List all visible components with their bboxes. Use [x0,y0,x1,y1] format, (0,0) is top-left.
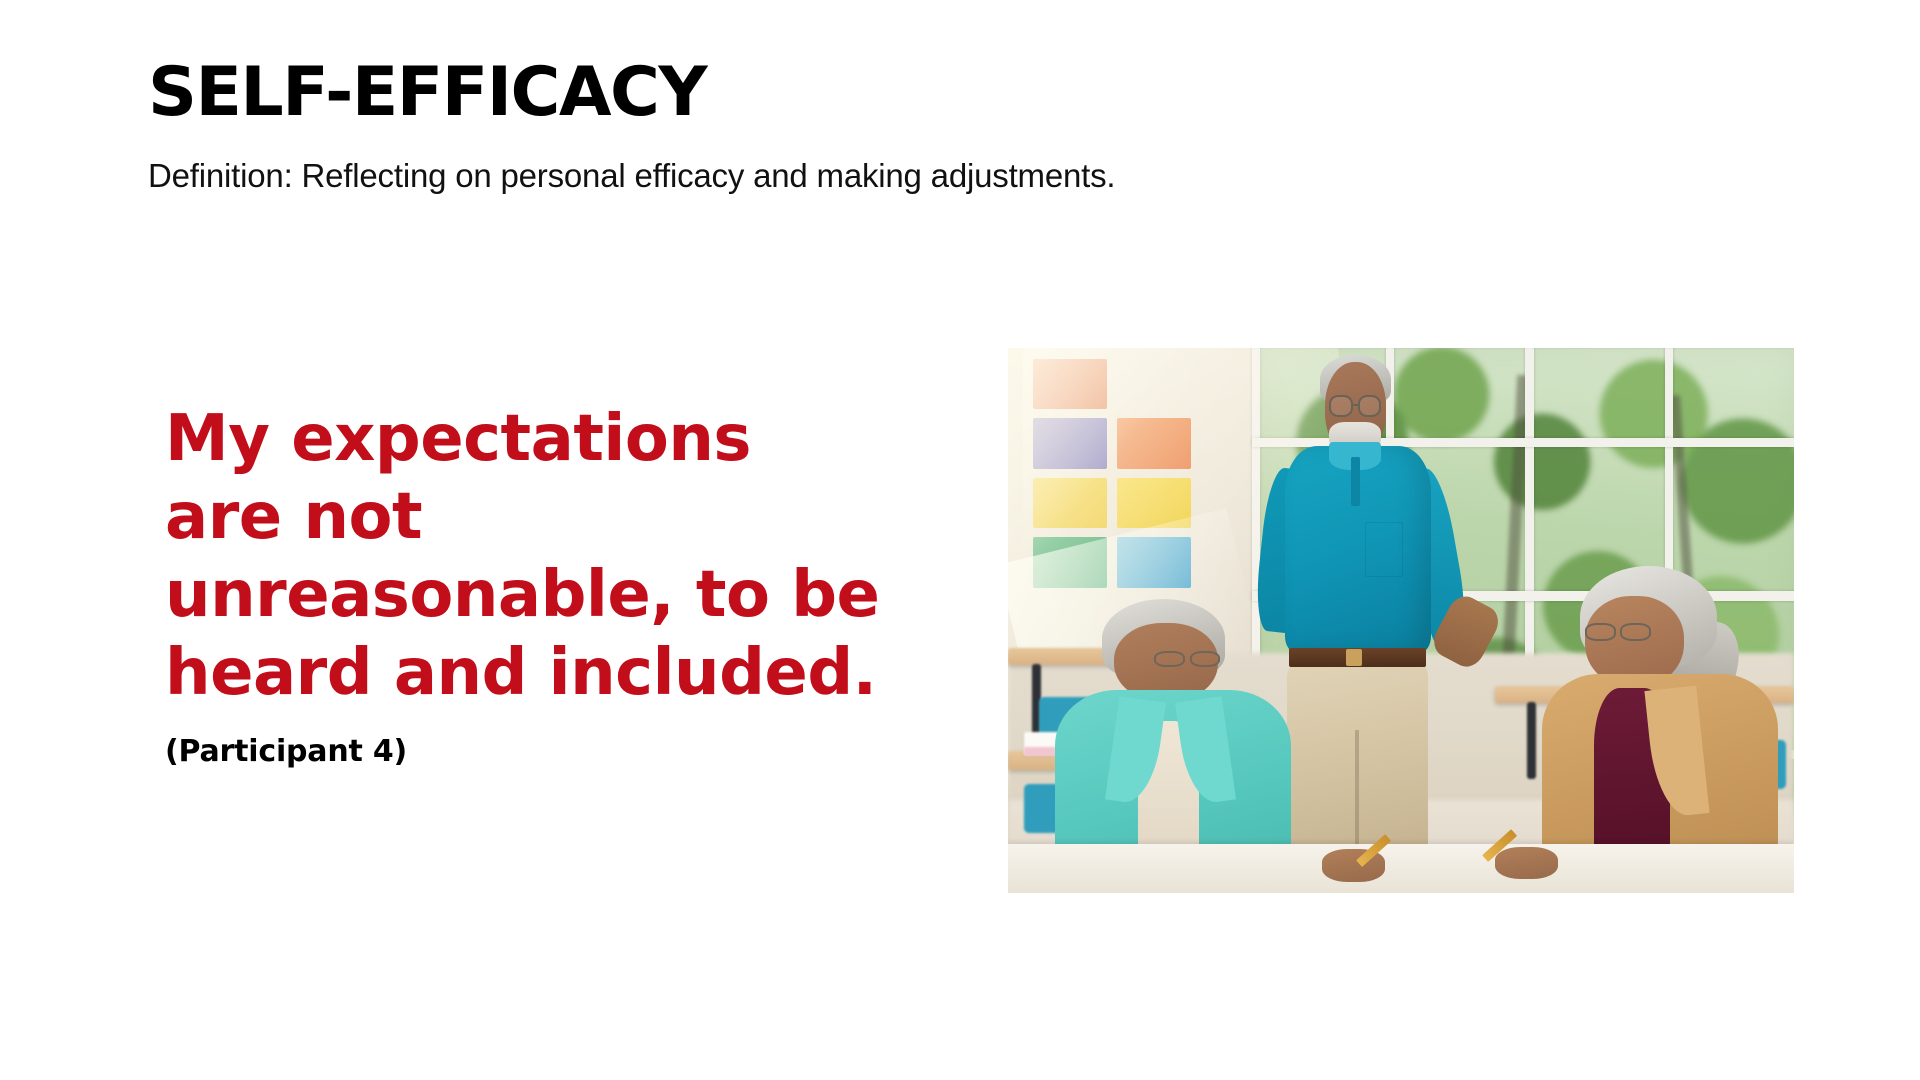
quote-block: My expectations are not unreasonable, to… [165,400,885,769]
eyeglasses-icon [1154,651,1185,667]
desk-leg [1527,702,1536,778]
eyeglasses-icon [1190,651,1221,667]
classroom-photo [1008,348,1794,893]
foreground-table [1008,844,1794,893]
slide-canvas: SELF-EFFICACY Definition: Reflecting on … [0,0,1920,1080]
man-shirt-pocket [1365,522,1403,577]
eyeglasses-bridge [1353,404,1359,406]
page-title: SELF-EFFICACY [148,58,1648,129]
eyeglasses-icon [1585,623,1616,641]
slide-definition-text: Definition: Reflecting on personal effic… [148,155,1648,196]
hand [1495,847,1558,880]
quote-attribution: (Participant 4) [165,734,885,769]
eyeglasses-icon [1620,623,1651,641]
hand [1322,849,1385,882]
eyeglasses-icon [1329,395,1353,417]
eyeglasses-icon [1358,395,1382,417]
photo-scene [1008,348,1794,893]
man-belt-buckle [1346,649,1363,666]
slide-header: SELF-EFFICACY Definition: Reflecting on … [148,58,1648,196]
participant-quote: My expectations are not unreasonable, to… [165,400,885,712]
man-polo-placket [1351,457,1360,506]
